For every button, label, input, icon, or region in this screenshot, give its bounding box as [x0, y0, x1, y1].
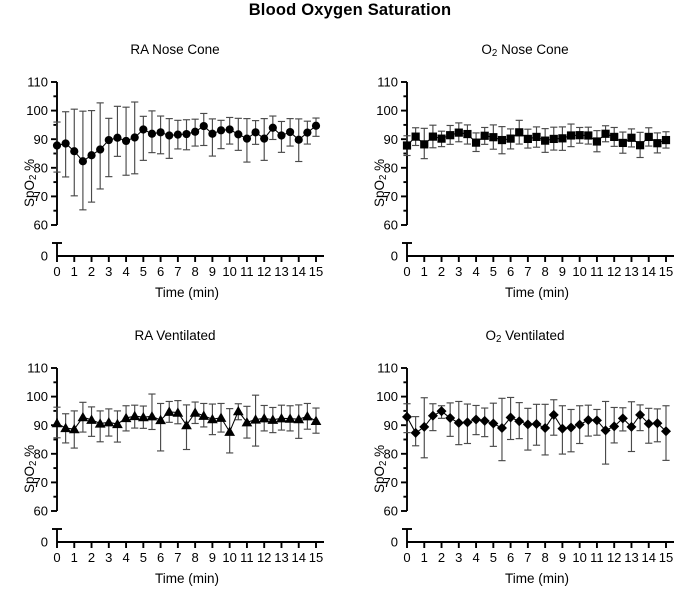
svg-text:0: 0 [391, 535, 398, 550]
svg-text:70: 70 [384, 475, 398, 490]
svg-text:80: 80 [384, 160, 398, 175]
svg-text:60: 60 [384, 504, 398, 519]
panel-ra-ventilated: RA VentilatedSpO2 %Time (min)60708090100… [0, 328, 350, 600]
data-point [462, 417, 472, 427]
svg-text:13: 13 [624, 550, 638, 565]
svg-text:110: 110 [377, 75, 398, 90]
svg-text:2: 2 [438, 550, 445, 565]
svg-text:2: 2 [88, 550, 95, 565]
data-point [62, 139, 70, 147]
svg-text:9: 9 [559, 550, 566, 565]
svg-text:15: 15 [309, 550, 323, 565]
svg-text:14: 14 [291, 264, 305, 279]
data-point [224, 427, 235, 436]
data-point [471, 414, 481, 424]
data-point [78, 412, 89, 421]
svg-text:0: 0 [391, 249, 398, 264]
data-point [312, 122, 320, 130]
panel-ra-nose-cone: RA Nose ConeSpO2 %Time (min)607080901001… [0, 42, 350, 314]
svg-text:1: 1 [71, 550, 78, 565]
data-point [216, 413, 227, 422]
svg-text:4: 4 [122, 264, 129, 279]
data-point [532, 133, 540, 141]
svg-text:90: 90 [34, 418, 48, 433]
data-point [454, 418, 464, 428]
data-point [96, 145, 104, 153]
data-point [402, 412, 412, 422]
svg-text:13: 13 [274, 264, 288, 279]
data-point [514, 416, 524, 426]
data-point [269, 124, 277, 132]
svg-text:90: 90 [384, 418, 398, 433]
svg-text:6: 6 [507, 264, 514, 279]
panel-o2-ventilated: O2 VentilatedSpO2 %Time (min)60708090100… [350, 328, 700, 600]
data-point [540, 423, 550, 433]
data-point [619, 139, 627, 147]
svg-text:90: 90 [34, 132, 48, 147]
plot-area: 6070809010011000123456789101112131415 [0, 328, 350, 600]
svg-text:10: 10 [222, 264, 236, 279]
svg-text:110: 110 [27, 75, 48, 90]
svg-text:60: 60 [34, 504, 48, 519]
data-point [463, 130, 471, 138]
data-point [182, 130, 190, 138]
panel-o2-nose-cone: O2 Nose ConeSpO2 %Time (min)607080901001… [350, 42, 700, 314]
svg-text:3: 3 [105, 264, 112, 279]
svg-text:1: 1 [421, 264, 428, 279]
data-point [226, 125, 234, 133]
svg-text:13: 13 [274, 550, 288, 565]
data-point [70, 147, 78, 155]
svg-text:5: 5 [140, 550, 147, 565]
data-point [148, 130, 156, 138]
data-point [122, 137, 130, 145]
plot-area: 6070809010011000123456789101112131415 [350, 42, 700, 314]
data-point [420, 140, 428, 148]
svg-text:12: 12 [257, 550, 271, 565]
data-point [260, 135, 268, 143]
svg-text:8: 8 [192, 550, 199, 565]
svg-text:2: 2 [88, 264, 95, 279]
data-point [428, 411, 438, 421]
data-point [234, 130, 242, 138]
svg-text:10: 10 [572, 264, 586, 279]
svg-text:110: 110 [377, 361, 398, 376]
data-point [636, 141, 644, 149]
svg-text:70: 70 [34, 475, 48, 490]
svg-text:4: 4 [472, 264, 479, 279]
data-point [243, 135, 251, 143]
data-point [653, 139, 661, 147]
svg-text:4: 4 [122, 550, 129, 565]
svg-text:0: 0 [41, 249, 48, 264]
data-point [489, 133, 497, 141]
data-point [523, 419, 533, 429]
svg-text:60: 60 [384, 218, 398, 233]
svg-text:5: 5 [490, 264, 497, 279]
svg-text:80: 80 [384, 446, 398, 461]
data-point [147, 411, 158, 420]
data-point [208, 130, 216, 138]
data-point [139, 125, 147, 133]
data-point [157, 128, 165, 136]
data-point [165, 131, 173, 139]
data-point [277, 131, 285, 139]
svg-text:9: 9 [209, 550, 216, 565]
svg-text:90: 90 [384, 132, 398, 147]
data-point [480, 416, 490, 426]
data-point [550, 135, 558, 143]
svg-text:70: 70 [384, 189, 398, 204]
svg-text:13: 13 [624, 264, 638, 279]
svg-text:3: 3 [455, 550, 462, 565]
svg-text:7: 7 [524, 550, 531, 565]
data-point [575, 420, 585, 430]
data-point [103, 417, 114, 426]
svg-text:3: 3 [105, 550, 112, 565]
data-point [645, 133, 653, 141]
svg-text:100: 100 [376, 389, 398, 404]
svg-text:12: 12 [607, 264, 621, 279]
data-point [217, 126, 225, 134]
svg-text:70: 70 [34, 189, 48, 204]
data-point [558, 134, 566, 142]
plot-area: 6070809010011000123456789101112131415 [0, 42, 350, 314]
data-point [584, 131, 592, 139]
data-point [60, 423, 71, 432]
svg-text:15: 15 [659, 264, 673, 279]
data-point [576, 131, 584, 139]
svg-text:9: 9 [209, 264, 216, 279]
data-point [567, 131, 575, 139]
data-point [198, 411, 209, 420]
data-point [549, 410, 559, 420]
data-point [53, 141, 61, 149]
svg-text:3: 3 [455, 264, 462, 279]
data-point [259, 413, 270, 422]
svg-text:5: 5 [490, 550, 497, 565]
data-point [541, 137, 549, 145]
svg-text:100: 100 [26, 103, 48, 118]
data-point [412, 133, 420, 141]
svg-text:8: 8 [192, 264, 199, 279]
data-point [472, 139, 480, 147]
data-point [593, 137, 601, 145]
svg-text:0: 0 [403, 550, 410, 565]
data-point [488, 418, 498, 428]
data-point [87, 151, 95, 159]
svg-text:100: 100 [376, 103, 398, 118]
data-point [610, 133, 618, 141]
data-point [129, 411, 140, 420]
data-point [437, 135, 445, 143]
svg-text:12: 12 [607, 550, 621, 565]
svg-text:5: 5 [140, 264, 147, 279]
data-point [303, 129, 311, 137]
data-point [566, 422, 576, 432]
svg-text:15: 15 [659, 550, 673, 565]
svg-text:12: 12 [257, 264, 271, 279]
data-point [233, 406, 244, 415]
data-point [295, 136, 303, 144]
data-point [419, 422, 429, 432]
data-point [498, 136, 506, 144]
svg-text:0: 0 [53, 550, 60, 565]
data-point [113, 134, 121, 142]
data-point [276, 413, 287, 422]
data-point [286, 128, 294, 136]
data-point [662, 136, 670, 144]
svg-text:10: 10 [222, 550, 236, 565]
svg-text:0: 0 [53, 264, 60, 279]
svg-text:14: 14 [641, 550, 655, 565]
data-point [437, 406, 447, 416]
svg-text:15: 15 [309, 264, 323, 279]
svg-text:60: 60 [34, 218, 48, 233]
svg-text:110: 110 [27, 361, 48, 376]
data-point [429, 133, 437, 141]
svg-text:4: 4 [472, 550, 479, 565]
data-point [242, 417, 253, 426]
svg-text:2: 2 [438, 264, 445, 279]
svg-text:7: 7 [174, 550, 181, 565]
svg-text:11: 11 [590, 264, 604, 279]
svg-text:14: 14 [641, 264, 655, 279]
data-point [200, 122, 208, 130]
svg-text:80: 80 [34, 160, 48, 175]
data-point [531, 419, 541, 429]
svg-text:7: 7 [524, 264, 531, 279]
svg-text:6: 6 [157, 264, 164, 279]
svg-text:0: 0 [403, 264, 410, 279]
data-point [79, 157, 87, 165]
svg-text:6: 6 [157, 550, 164, 565]
svg-text:7: 7 [174, 264, 181, 279]
data-point [131, 133, 139, 141]
svg-text:10: 10 [572, 550, 586, 565]
data-point [445, 413, 455, 423]
svg-text:100: 100 [26, 389, 48, 404]
svg-text:11: 11 [590, 550, 604, 565]
svg-text:9: 9 [559, 264, 566, 279]
figure-title: Blood Oxygen Saturation [0, 1, 700, 20]
data-point [302, 411, 313, 420]
svg-text:11: 11 [240, 550, 254, 565]
figure-container: Blood Oxygen Saturation RA Nose ConeSpO2… [0, 0, 700, 594]
data-point [181, 420, 192, 429]
data-point [52, 418, 63, 427]
data-point [515, 128, 523, 136]
data-point [411, 428, 421, 438]
data-point [403, 141, 411, 149]
data-point [583, 415, 593, 425]
svg-text:0: 0 [41, 535, 48, 550]
data-point [174, 131, 182, 139]
plot-area: 6070809010011000123456789101112131415 [350, 328, 700, 600]
svg-text:1: 1 [421, 550, 428, 565]
data-point [601, 130, 609, 138]
data-point [557, 424, 567, 434]
svg-text:80: 80 [34, 446, 48, 461]
svg-text:6: 6 [507, 550, 514, 565]
data-point [524, 135, 532, 143]
svg-text:11: 11 [240, 264, 254, 279]
data-point [251, 128, 259, 136]
data-point [191, 128, 199, 136]
data-point [164, 407, 175, 416]
svg-text:1: 1 [71, 264, 78, 279]
data-point [446, 131, 454, 139]
data-point [190, 407, 201, 416]
data-point [455, 129, 463, 137]
data-point [481, 132, 489, 140]
svg-text:14: 14 [291, 550, 305, 565]
data-point [507, 135, 515, 143]
svg-text:8: 8 [542, 264, 549, 279]
data-point [627, 134, 635, 142]
svg-text:8: 8 [542, 550, 549, 565]
data-point [105, 136, 113, 144]
